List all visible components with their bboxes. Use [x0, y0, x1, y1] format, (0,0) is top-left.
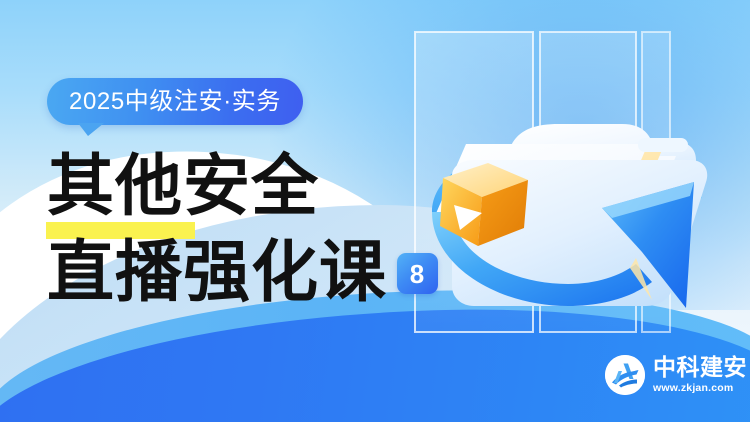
badge-tail-icon — [78, 123, 104, 136]
course-banner: 2025中级注安·实务 其他安全 直播强化课 8 中科建安 www.zkj — [0, 0, 750, 422]
title-line-2-text: 直播强化课 — [47, 238, 387, 305]
title-line-2: 直播强化课 8 — [47, 238, 467, 305]
zkjan-circle-logo-icon — [605, 355, 645, 395]
badge-pill: 2025中级注安·实务 — [47, 78, 303, 125]
logo-company-name: 中科建安 — [653, 356, 747, 379]
badge-label: 2025中级注安·实务 — [69, 90, 281, 114]
episode-number-badge: 8 — [397, 253, 438, 294]
logo-text-block: 中科建安 www.zkjan.com — [653, 356, 747, 394]
title-line-1: 其他安全 — [47, 152, 467, 219]
headline-block: 其他安全 直播强化课 8 — [47, 152, 467, 305]
title-line-1-text: 其他安全 — [47, 146, 319, 225]
brand-logo: 中科建安 www.zkjan.com — [605, 355, 747, 395]
logo-website-url: www.zkjan.com — [653, 383, 747, 394]
course-subject-badge: 2025中级注安·实务 — [47, 78, 303, 125]
